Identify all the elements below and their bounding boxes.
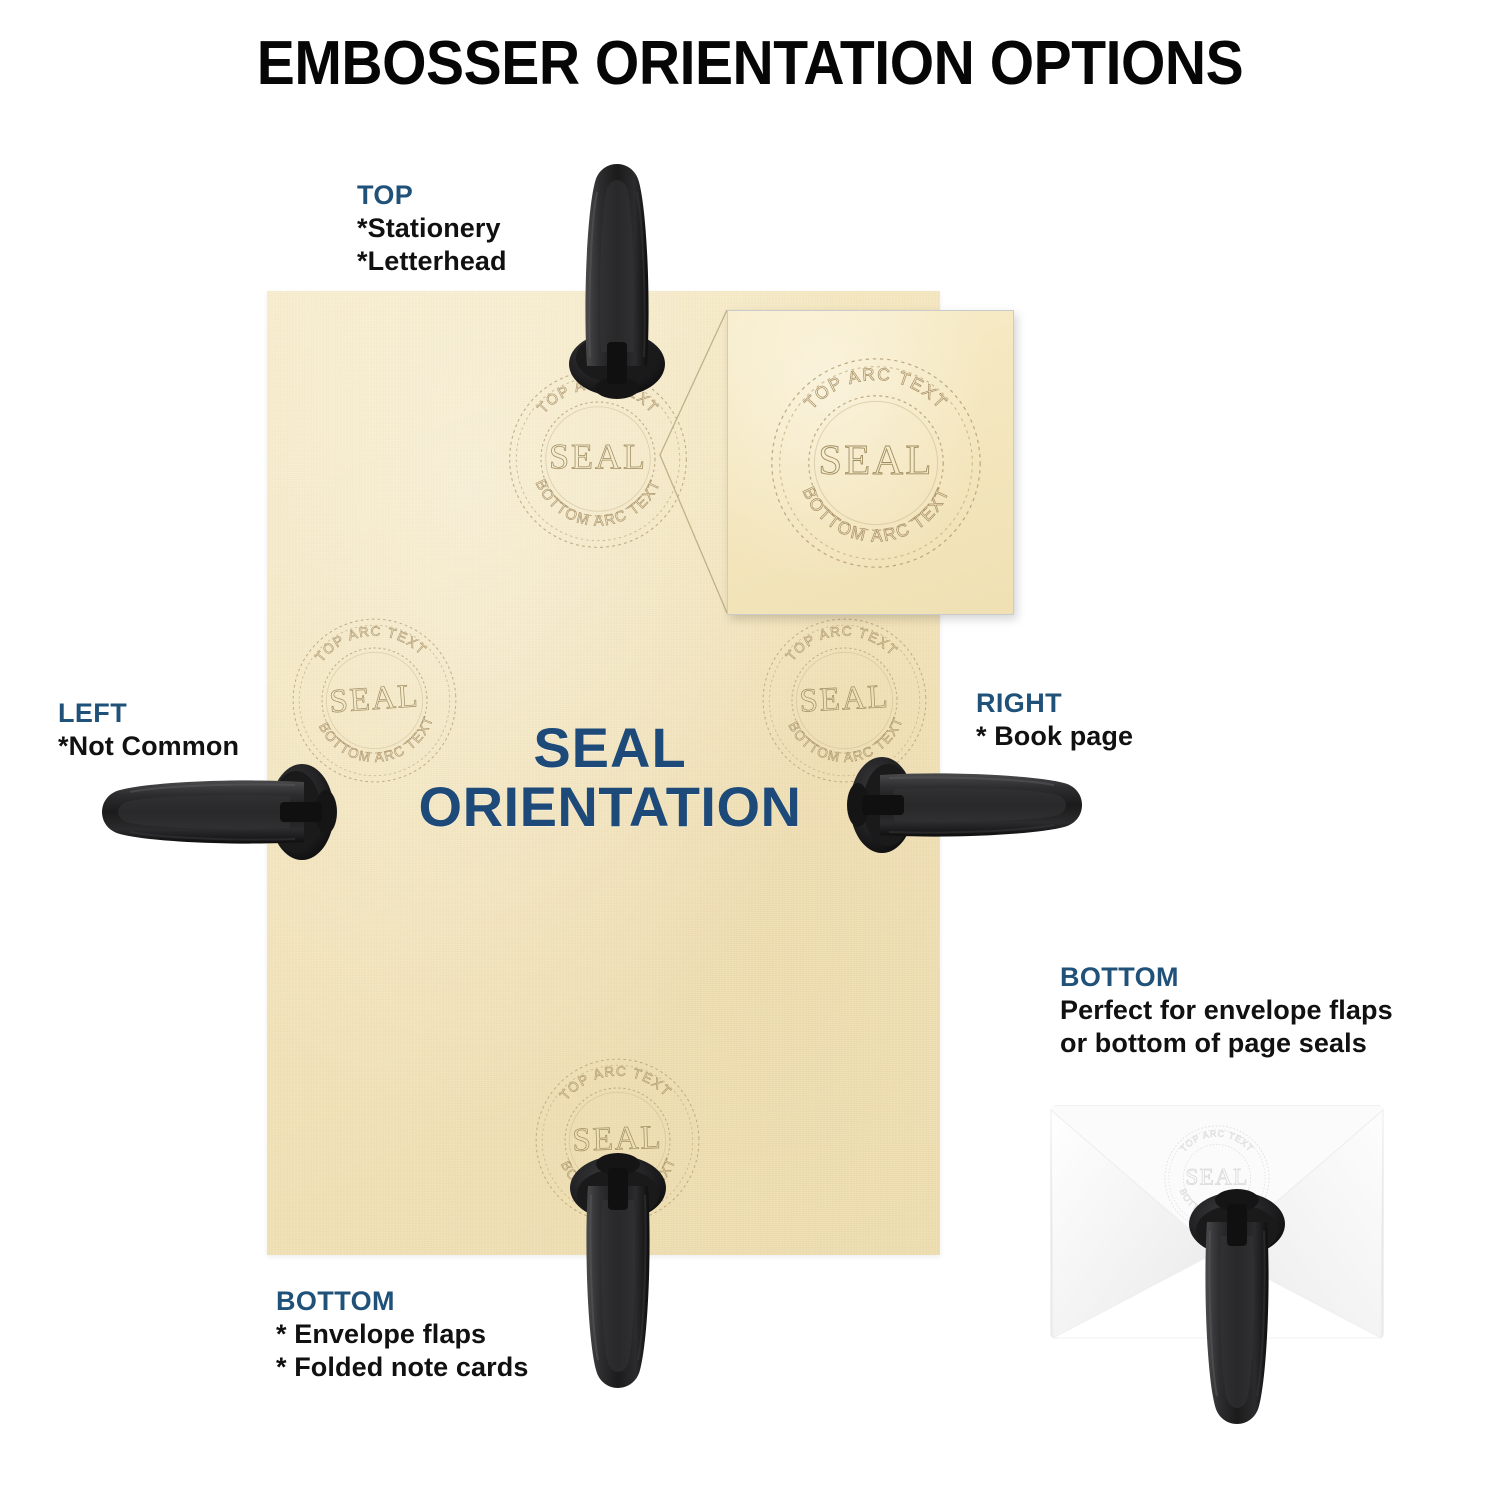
label-bottom-paper-heading: BOTTOM [276,1286,528,1318]
label-right-line-1: * Book page [976,720,1133,753]
label-right-heading: RIGHT [976,688,1133,720]
center-label-line-2: ORIENTATION [330,777,890,836]
label-left-line-1: *Not Common [58,730,239,763]
label-top-heading: TOP [357,180,507,212]
label-bottom-envelope-line-2: or bottom of page seals [1060,1027,1393,1060]
embosser-tool-envelope[interactable] [1177,1184,1297,1437]
seal-impression-magnified [764,351,988,580]
page-title: EMBOSSER ORIENTATION OPTIONS [60,28,1440,99]
label-bottom-paper-line-2: * Folded note cards [276,1351,528,1384]
center-seal-orientation-label: SEAL ORIENTATION [330,718,890,837]
label-bottom-envelope: BOTTOM Perfect for envelope flaps or bot… [1060,962,1393,1060]
label-right: RIGHT * Book page [976,688,1133,753]
embosser-tool-bottom[interactable] [558,1148,678,1401]
infographic-canvas: EMBOSSER ORIENTATION OPTIONS TOP ARC TEX… [0,0,1500,1500]
label-bottom-paper: BOTTOM * Envelope flaps * Folded note ca… [276,1286,528,1384]
center-label-line-1: SEAL [330,718,890,777]
seal-magnifier-callout [727,310,1014,615]
embosser-tool-left[interactable] [90,752,338,877]
label-left: LEFT *Not Common [58,698,239,763]
embosser-tool-top[interactable] [557,152,677,405]
label-bottom-envelope-line-1: Perfect for envelope flaps [1060,994,1393,1027]
label-left-heading: LEFT [58,698,239,730]
label-top-line-1: *Stationery [357,212,507,245]
label-top-line-2: *Letterhead [357,245,507,278]
label-top: TOP *Stationery *Letterhead [357,180,507,278]
label-bottom-paper-line-1: * Envelope flaps [276,1318,528,1351]
label-bottom-envelope-heading: BOTTOM [1060,962,1393,994]
